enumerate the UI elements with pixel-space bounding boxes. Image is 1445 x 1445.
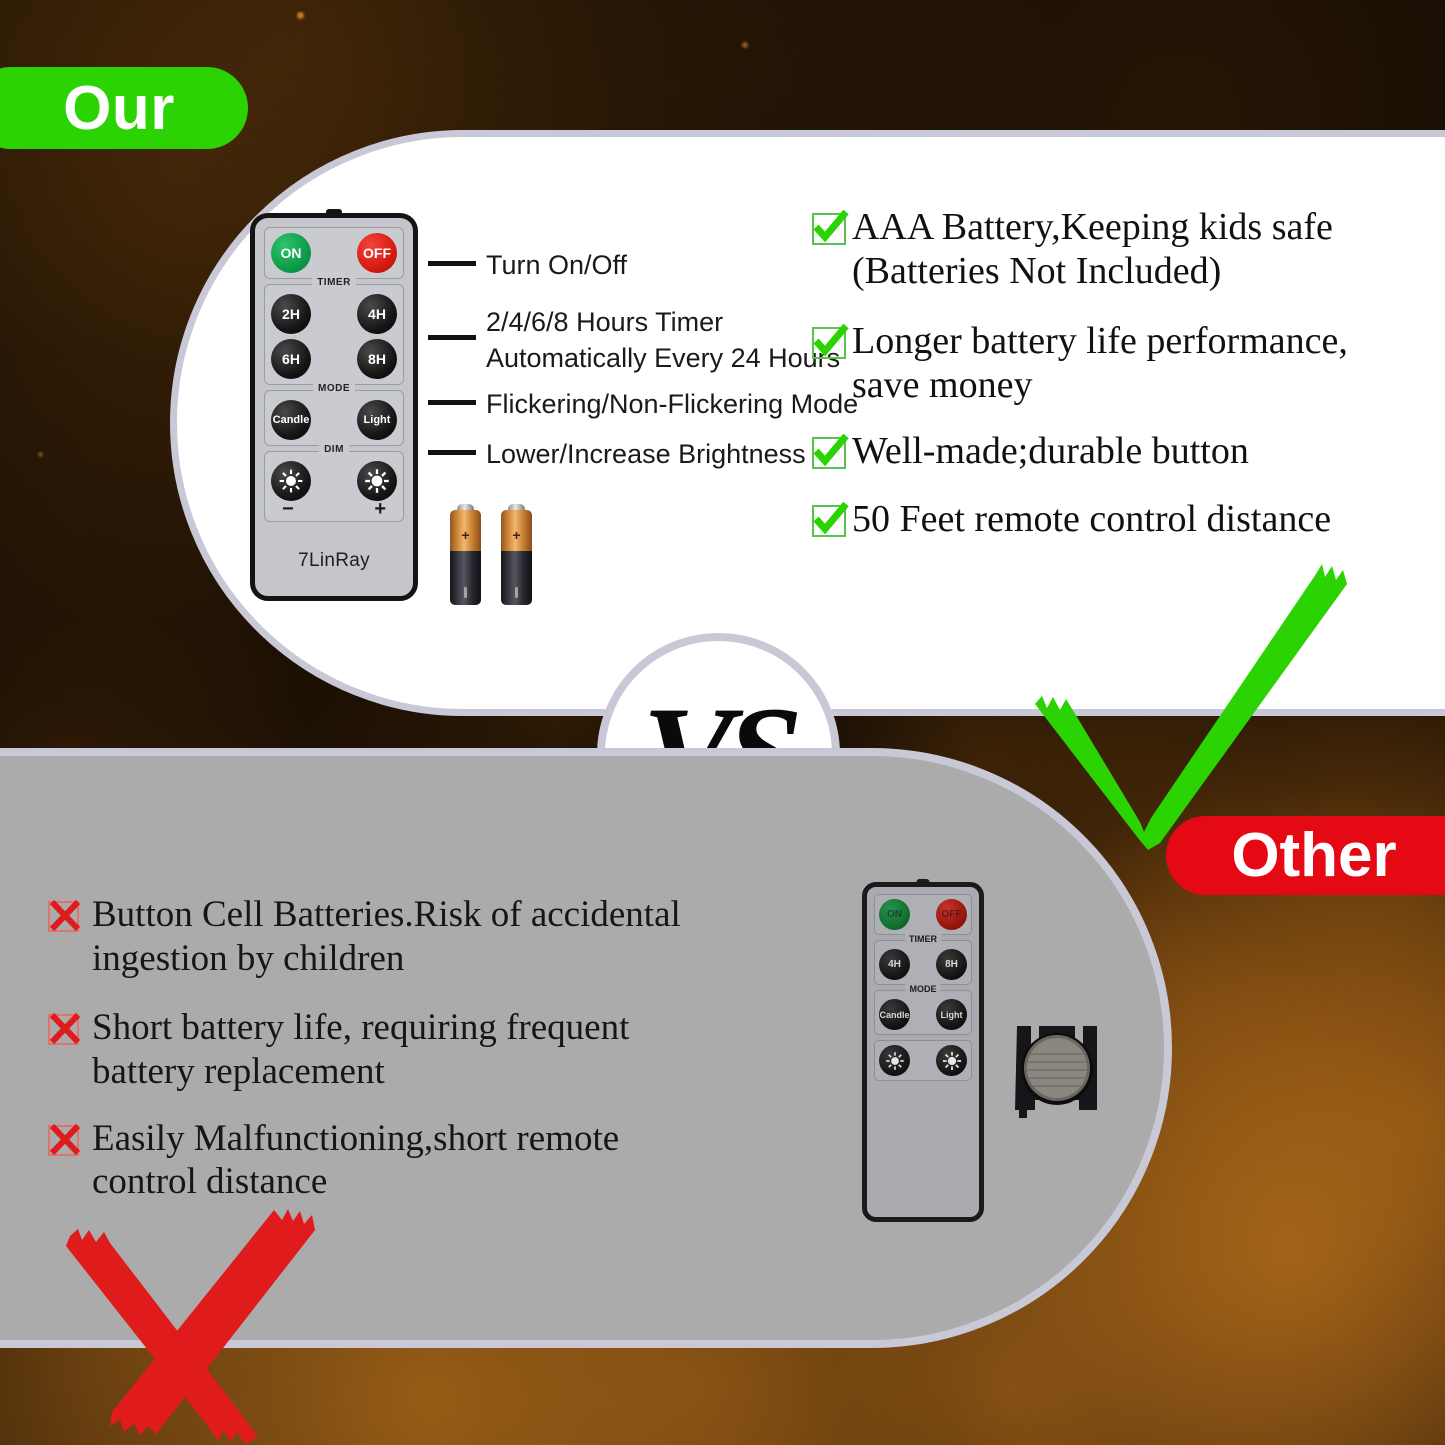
drawback-text: Button Cell Batteries.Risk of accidental… [92,893,681,980]
bokeh-dot [38,452,43,457]
candle-mode-button[interactable]: Candle [271,400,311,440]
timer-8h-button[interactable]: 8H [357,339,397,379]
big-green-check-icon [1020,560,1350,850]
light-mode-button[interactable]: Light [936,999,967,1030]
mode-group: MODE Candle Light [874,990,972,1035]
mode-group-label: MODE [313,383,355,394]
battery-plus-mark: + [501,528,532,542]
sun-brightness-icon [885,1051,905,1071]
timer-group: TIMER 4H 8H [874,940,972,985]
other-remote-control: ON OFF TIMER 4H 8H MODE Candle Light [862,882,984,1222]
timer-group: TIMER 2H 4H 6H 8H [264,284,404,385]
feature-text: AAA Battery,Keeping kids safe (Batteries… [852,205,1333,293]
callout-leader-line [428,261,476,266]
check-box-icon [812,435,846,469]
mode-group-label: MODE [906,984,941,994]
callout-timer: 2/4/6/8 Hours Timer Automatically Every … [428,305,840,376]
dim-up-button[interactable] [357,461,397,501]
bokeh-dot [297,12,304,19]
other-badge-label: Other [1231,820,1396,891]
bokeh-dot [742,42,748,48]
list-item: 50 Feet remote control distance [812,497,1432,541]
list-item: Longer battery life performance, save mo… [812,319,1432,407]
callout-text: Flickering/Non-Flickering Mode [486,387,858,423]
our-remote-control: ON OFF TIMER 2H 4H 6H 8H MODE Candle Lig… [250,213,418,601]
check-box-icon [812,211,846,245]
battery-stripe [464,587,467,598]
ir-emitter-nub [917,879,930,886]
timer-4h-button[interactable]: 4H [357,294,397,334]
power-group: ON OFF [874,894,972,935]
timer-6h-button[interactable]: 6H [271,339,311,379]
on-button[interactable]: ON [879,899,910,930]
check-box-icon [812,503,846,537]
aaa-battery: + [501,504,532,605]
feature-text: Well-made;durable button [852,429,1249,473]
coin-cell-battery-holder [1003,1014,1111,1122]
ir-emitter-nub [326,209,342,217]
our-badge-label: Our [63,73,175,144]
battery-upper-body: + [501,510,532,551]
our-features-list: AAA Battery,Keeping kids safe (Batteries… [812,205,1432,567]
cross-box-icon [48,901,79,932]
callout-leader-line [428,335,476,340]
aaa-battery: + [450,504,481,605]
off-button[interactable]: OFF [936,899,967,930]
callout-power: Turn On/Off [428,248,627,284]
other-badge: Other [1166,816,1445,895]
battery-plus-mark: + [450,528,481,542]
dim-down-button[interactable] [879,1045,910,1076]
timer-2h-button[interactable]: 2H [271,294,311,334]
callout-text: Lower/Increase Brightness [486,437,806,473]
feature-text: 50 Feet remote control distance [852,497,1331,541]
callout-leader-line [428,450,476,455]
sun-brightness-icon [942,1051,962,1071]
battery-stripe [515,587,518,598]
callout-brightness: Lower/Increase Brightness [428,437,806,473]
sun-brightness-icon [278,468,304,494]
list-item: Easily Malfunctioning,short remote contr… [48,1117,768,1204]
light-mode-button[interactable]: Light [357,400,397,440]
off-button[interactable]: OFF [357,233,397,273]
remote-brand-label: 7LinRay [264,550,404,572]
callout-mode: Flickering/Non-Flickering Mode [428,387,858,423]
list-item: AAA Battery,Keeping kids safe (Batteries… [812,205,1432,293]
feature-text: Longer battery life performance, save mo… [852,319,1348,407]
cross-box-icon [48,1014,79,1045]
callout-leader-line [428,400,476,405]
dim-down-button[interactable] [271,461,311,501]
callout-text: 2/4/6/8 Hours Timer Automatically Every … [486,305,840,376]
dim-up-button[interactable] [936,1045,967,1076]
our-badge: Our [0,67,248,149]
dim-minus-label: − [282,502,294,516]
battery-upper-body: + [450,510,481,551]
list-item: Button Cell Batteries.Risk of accidental… [48,893,768,980]
dim-group-label: DIM [319,444,349,455]
timer-group-label: TIMER [312,277,356,288]
callout-text: Turn On/Off [486,248,627,284]
list-item: Well-made;durable button [812,429,1432,473]
mode-group: MODE Candle Light [264,390,404,446]
timer-4h-button[interactable]: 4H [879,949,910,980]
dim-plus-label: + [374,502,386,516]
check-box-icon [812,325,846,359]
cross-box-icon [48,1125,79,1156]
power-group: ON OFF [264,227,404,279]
candle-mode-button[interactable]: Candle [879,999,910,1030]
dim-group: DIM [264,451,404,522]
list-item: Short battery life, requiring frequent b… [48,1006,768,1093]
timer-group-label: TIMER [905,934,941,944]
drawback-text: Short battery life, requiring frequent b… [92,1006,629,1093]
big-red-cross-icon [60,1198,350,1445]
sun-brightness-icon [364,468,390,494]
other-drawbacks-list: Button Cell Batteries.Risk of accidental… [48,893,768,1230]
drawback-text: Easily Malfunctioning,short remote contr… [92,1117,619,1204]
on-button[interactable]: ON [271,233,311,273]
dim-group [874,1040,972,1081]
timer-8h-button[interactable]: 8H [936,949,967,980]
comparison-infographic: ON OFF TIMER 2H 4H 6H 8H MODE Candle Lig… [0,0,1445,1445]
